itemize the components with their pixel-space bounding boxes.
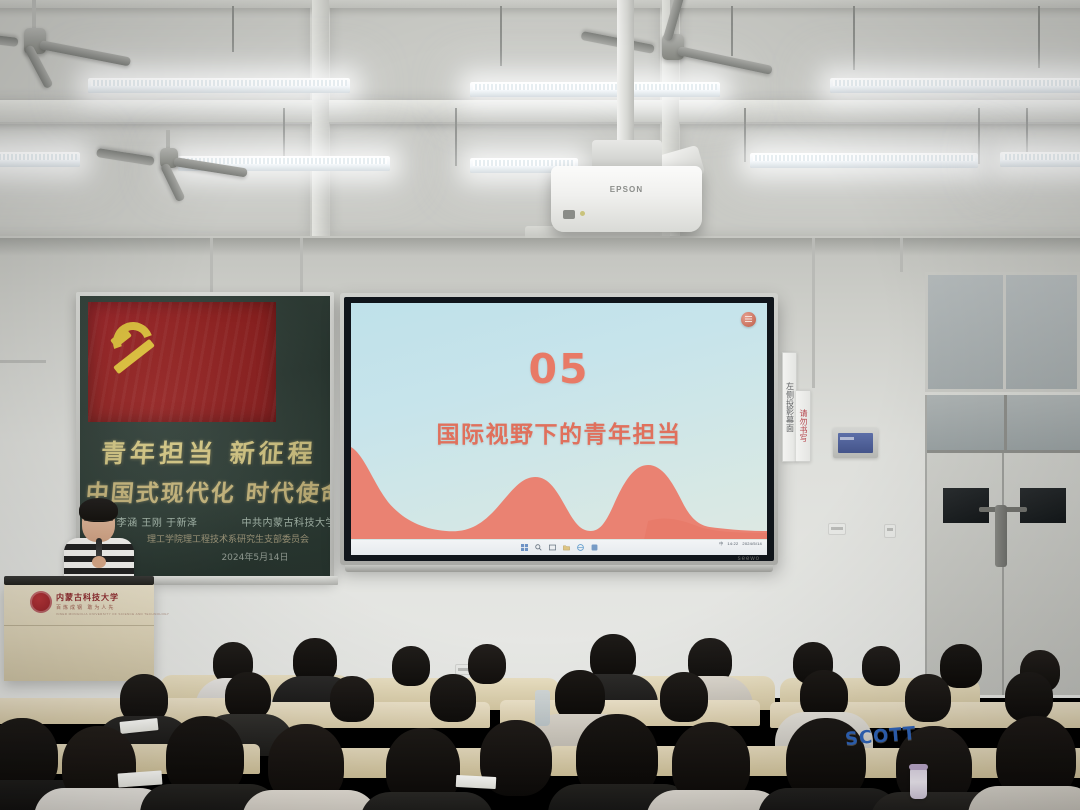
- start-icon[interactable]: [521, 544, 528, 551]
- warning-sign-text: 左侧投影幕面: [786, 382, 794, 432]
- notebook: [456, 775, 497, 789]
- ceiling-light: [750, 153, 978, 168]
- logo-badge-icon: [741, 312, 756, 327]
- hills-graphic: [351, 429, 767, 539]
- audience-shoulders: [242, 790, 378, 810]
- presentation-slide: 05 国际视野下的青年担当 中 14:22 2024/5: [351, 303, 767, 555]
- door-handle[interactable]: [995, 505, 1007, 567]
- wall-control-panel[interactable]: [833, 428, 878, 458]
- tray-time[interactable]: 14:22: [727, 542, 738, 546]
- presenter-hair: [79, 498, 118, 522]
- presenter-glasses: [84, 520, 113, 527]
- university-seal-icon: [30, 591, 52, 613]
- browser-icon[interactable]: [577, 544, 584, 551]
- audience-head: [468, 644, 506, 684]
- wall-socket[interactable]: [884, 524, 896, 538]
- hammer-sickle-icon: [109, 320, 167, 380]
- audience-head: [1005, 672, 1053, 722]
- system-tray[interactable]: 中 14:22 2024/5/14: [719, 542, 762, 546]
- task-view-icon[interactable]: [549, 544, 556, 551]
- projector-mount-pole: [617, 0, 634, 150]
- blackboard-credit-right: 中共内蒙古科技大学: [242, 514, 331, 529]
- tray-date[interactable]: 2024/5/14: [742, 542, 762, 546]
- projector-status-led: [580, 211, 585, 216]
- slide-number: 05: [351, 345, 767, 393]
- projection-warning-sign: 左侧投影幕面: [782, 352, 797, 462]
- door-window: [1020, 488, 1066, 523]
- display-brand-label: seewo: [738, 556, 760, 562]
- screen-base-bar: [345, 565, 773, 572]
- audience-area: [0, 620, 1080, 810]
- blackboard-headline: 青年担当 新征程: [89, 434, 330, 470]
- tray-lang[interactable]: 中: [719, 542, 723, 546]
- control-panel-display: [838, 433, 873, 453]
- side-window: [925, 272, 1080, 392]
- university-name-en: INNER MONGOLIA UNIVERSITY OF SCIENCE AND…: [56, 612, 169, 616]
- projection-warning-sign-red: 请勿书写: [796, 390, 811, 462]
- door-transom-window: [927, 395, 1080, 453]
- audience-head: [430, 674, 476, 722]
- ceiling-light: [830, 78, 1080, 93]
- app-icon[interactable]: [591, 544, 598, 551]
- audience-head: [940, 644, 982, 688]
- wall-socket[interactable]: [828, 523, 846, 535]
- projection-screen[interactable]: 05 国际视野下的青年担当 中 14:22 2024/5: [340, 293, 778, 565]
- university-name: 内蒙古科技大学: [56, 592, 119, 603]
- university-motto: 百炼成钢 敢为人先: [56, 604, 115, 611]
- blackboard-date-line: 2024年5月14日: [190, 550, 320, 563]
- ceiling-projector: EPSON: [551, 166, 702, 232]
- projector-brand-label: EPSON: [551, 185, 702, 194]
- drink-tumbler: [910, 768, 927, 799]
- audience-head: [660, 672, 708, 722]
- folder-icon[interactable]: [563, 544, 570, 551]
- presenter: [62, 494, 136, 586]
- presenter-hand: [92, 556, 106, 568]
- lecture-hall-photo: EPSON 青年担当 新征程 中国式现代化 时代使命 主讲 李涵 王刚 于新泽 …: [0, 0, 1080, 810]
- search-icon[interactable]: [535, 544, 542, 551]
- audience-shoulders: [360, 792, 494, 810]
- audience-head: [225, 672, 271, 720]
- ceiling-light: [88, 78, 350, 93]
- ceiling: [0, 0, 1080, 240]
- blackboard-org-line: 理工学院理工程技术系研究生支部委员会: [118, 532, 330, 545]
- water-bottle: [535, 690, 550, 726]
- ceiling-light: [1000, 152, 1080, 167]
- ceiling-light: [470, 82, 720, 97]
- windows-taskbar[interactable]: 中 14:22 2024/5/14: [351, 540, 767, 555]
- lectern-top-edge: [4, 576, 154, 585]
- audience-head: [330, 676, 374, 722]
- audience-shoulders: [968, 786, 1080, 810]
- notebook: [118, 770, 163, 787]
- audience-head: [862, 646, 900, 686]
- warning-sign-text-red: 请勿书写: [799, 409, 807, 443]
- party-flag: [88, 302, 276, 422]
- ceiling-light: [0, 152, 80, 167]
- audience-head: [905, 674, 951, 722]
- projector-lens: [563, 210, 575, 219]
- door-window: [943, 488, 989, 523]
- audience-head: [392, 646, 430, 686]
